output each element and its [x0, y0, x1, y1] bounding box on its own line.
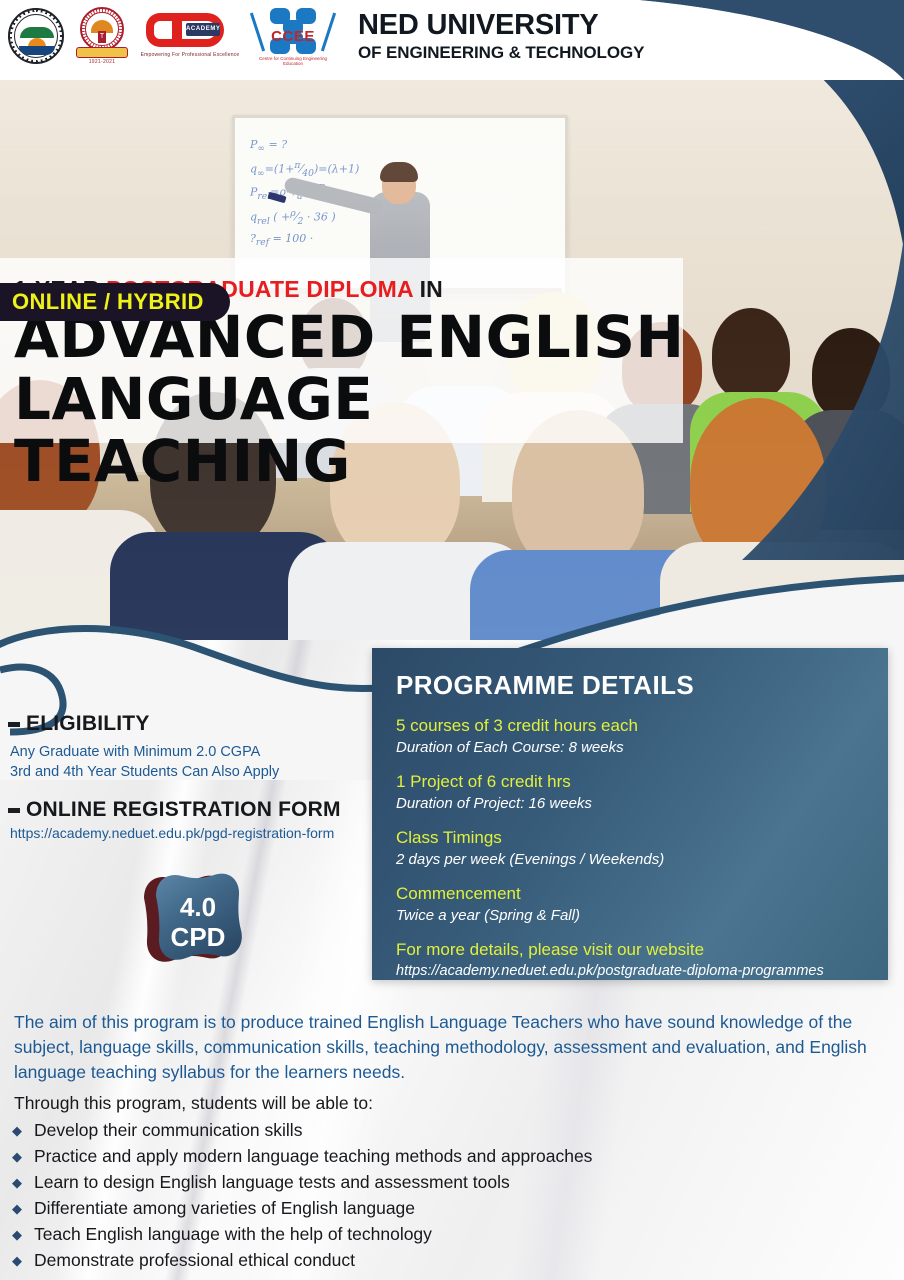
- cpd-label: CPD: [171, 922, 226, 952]
- online-hybrid-label: ONLINE / HYBRID: [12, 289, 204, 315]
- dash-bullet-icon: [8, 722, 20, 727]
- page-header: T 1921-2021 ACADEMY Empowering For Profe…: [0, 0, 904, 80]
- ccee-logo-icon: CCEE Centre for Continuing Engineering E…: [250, 6, 336, 66]
- cpd-badge: 4.0 CPD: [136, 866, 246, 982]
- list-item-label: Differentiate among varieties of English…: [34, 1196, 415, 1221]
- panel-group: Commencement Twice a year (Spring & Fall…: [396, 883, 864, 926]
- eligibility-line: 3rd and 4th Year Students Can Also Apply: [10, 762, 388, 782]
- list-item-label: Learn to design English language tests a…: [34, 1170, 510, 1195]
- panel-group: 5 courses of 3 credit hours each Duratio…: [396, 715, 864, 758]
- panel-group-value: Duration of Each Course: 8 weeks: [396, 737, 864, 758]
- eligibility-line: Any Graduate with Minimum 2.0 CGPA: [10, 742, 388, 762]
- corner-wedge-shape: [574, 0, 904, 80]
- hero-title-line2: LANGUAGE TEACHING: [14, 368, 700, 492]
- program-aim-paragraph: The aim of this program is to produce tr…: [14, 1010, 886, 1085]
- panel-group: 1 Project of 6 credit hrs Duration of Pr…: [396, 771, 864, 814]
- panel-group-value: 2 days per week (Evenings / Weekends): [396, 849, 864, 870]
- panel-group: Class Timings 2 days per week (Evenings …: [396, 827, 864, 870]
- outcomes-intro: Through this program, students will be a…: [14, 1093, 373, 1114]
- list-item-label: Demonstrate professional ethical conduct: [34, 1248, 355, 1273]
- diamond-bullet-icon: ◆: [10, 1144, 24, 1169]
- list-item-label: Develop their communication skills: [34, 1118, 302, 1143]
- panel-group-key: Class Timings: [396, 827, 864, 849]
- registration-url-link[interactable]: https://academy.neduet.edu.pk/pgd-regist…: [10, 825, 408, 841]
- registration-section: ONLINE REGISTRATION FORM https://academy…: [8, 798, 408, 841]
- panel-website-link[interactable]: https://academy.neduet.edu.pk/postgradua…: [396, 961, 864, 982]
- panel-group-key: 5 courses of 3 credit hours each: [396, 715, 864, 737]
- list-item: ◆ Develop their communication skills: [10, 1118, 890, 1143]
- ccee-tagline: Centre for Continuing Engineering Educat…: [250, 56, 336, 66]
- panel-group-key: Commencement: [396, 883, 864, 905]
- programme-details-panel: PROGRAMME DETAILS 5 courses of 3 credit …: [372, 648, 888, 980]
- registration-heading-row: ONLINE REGISTRATION FORM: [8, 798, 408, 822]
- diamond-bullet-icon: ◆: [10, 1248, 24, 1273]
- list-item: ◆ Differentiate among varieties of Engli…: [10, 1196, 890, 1221]
- nd-academy-logo-icon: ACADEMY Empowering For Professional Exce…: [140, 7, 240, 65]
- diamond-bullet-icon: ◆: [10, 1196, 24, 1221]
- academy-tagline: Empowering For Professional Excellence: [140, 52, 240, 58]
- kicker-post: IN: [413, 276, 443, 302]
- academy-badge-label: ACADEMY: [186, 23, 220, 36]
- online-hybrid-badge: ONLINE / HYBRID: [0, 283, 230, 321]
- panel-title: PROGRAMME DETAILS: [396, 670, 864, 701]
- ned-university-seal-icon: [8, 8, 64, 64]
- eligibility-heading-row: ELIGIBILITY: [8, 712, 388, 736]
- diamond-bullet-icon: ◆: [10, 1222, 24, 1247]
- crest-year-label: 1921-2021: [74, 59, 130, 65]
- outcomes-list: ◆ Develop their communication skills ◆ P…: [10, 1118, 890, 1274]
- eligibility-section: ELIGIBILITY Any Graduate with Minimum 2.…: [8, 712, 388, 782]
- panel-group-value: Twice a year (Spring & Fall): [396, 905, 864, 926]
- ned-crest-icon: T 1921-2021: [74, 7, 130, 65]
- dash-bullet-icon: [8, 808, 20, 813]
- panel-group-key: 1 Project of 6 credit hrs: [396, 771, 864, 793]
- panel-group-key: For more details, please visit our websi…: [396, 939, 864, 961]
- registration-heading: ONLINE REGISTRATION FORM: [26, 798, 341, 822]
- cpd-value: 4.0: [180, 892, 216, 922]
- list-item: ◆ Learn to design English language tests…: [10, 1170, 890, 1195]
- list-item: ◆ Teach English language with the help o…: [10, 1222, 890, 1247]
- panel-group-value: Duration of Project: 16 weeks: [396, 793, 864, 814]
- header-corner-wedge: [574, 0, 904, 80]
- panel-group: For more details, please visit our websi…: [396, 939, 864, 982]
- list-item: ◆ Demonstrate professional ethical condu…: [10, 1248, 890, 1273]
- list-item-label: Teach English language with the help of …: [34, 1222, 432, 1247]
- list-item: ◆ Practice and apply modern language tea…: [10, 1144, 890, 1169]
- diamond-bullet-icon: ◆: [10, 1170, 24, 1195]
- diamond-bullet-icon: ◆: [10, 1118, 24, 1143]
- eligibility-heading: ELIGIBILITY: [26, 712, 150, 736]
- list-item-label: Practice and apply modern language teach…: [34, 1144, 592, 1169]
- cpd-badge-shape: 4.0 CPD: [136, 866, 246, 982]
- ccee-label: CCEE: [250, 28, 336, 45]
- poster-root: P∞ = ? q∞=(1+π⁄40)=(λ+1) Prel=ρ·1⁄a = P⁄…: [0, 0, 904, 1280]
- logo-row: T 1921-2021 ACADEMY Empowering For Profe…: [8, 6, 336, 66]
